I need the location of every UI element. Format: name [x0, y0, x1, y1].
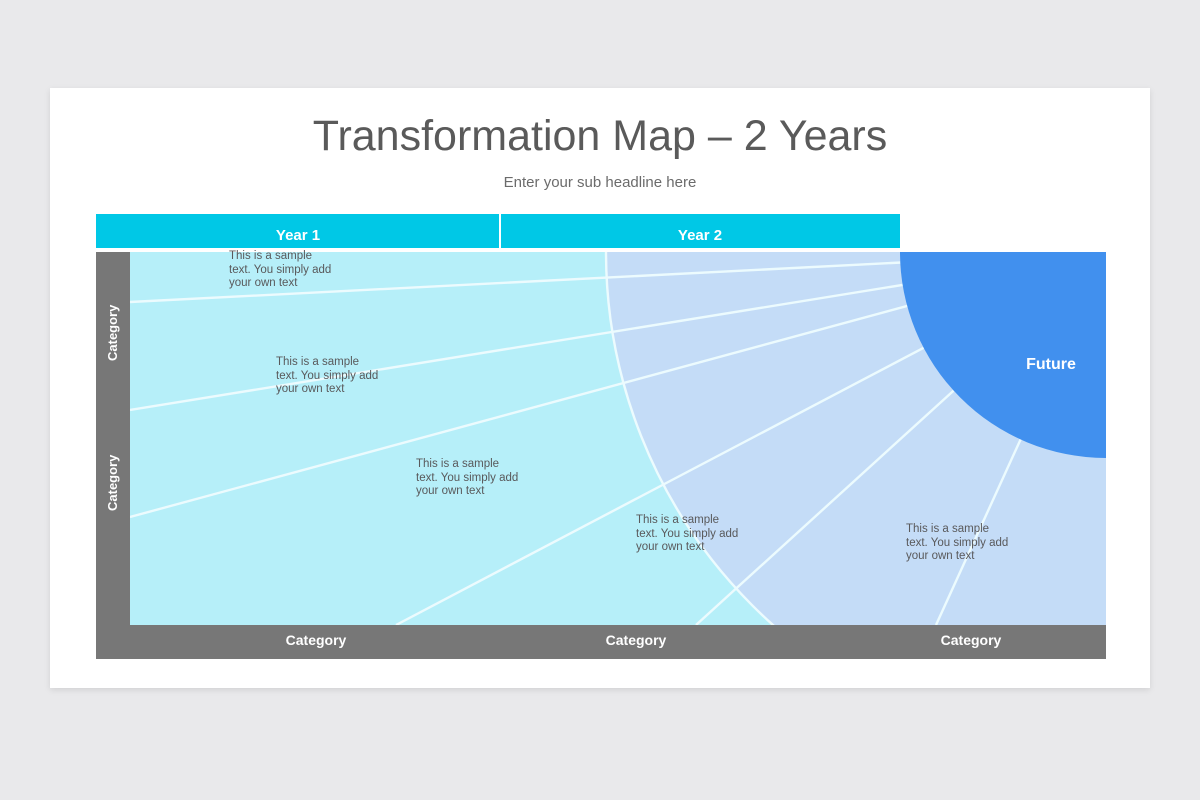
- screenshot-stage: Transformation Map – 2 Years Enter your …: [0, 0, 1200, 800]
- page-title: Transformation Map – 2 Years: [50, 112, 1150, 161]
- bottom-category-bar: [96, 625, 1106, 659]
- year-header-bar[interactable]: [96, 214, 900, 248]
- presentation-slide: Transformation Map – 2 Years Enter your …: [50, 88, 1150, 688]
- side-category-rail: [96, 252, 130, 625]
- transformation-map-diagram: Year 1 Year 2 Future Category Category C…: [96, 214, 1106, 666]
- page-subtitle: Enter your sub headline here: [50, 174, 1150, 191]
- radial-fan-graphic: [96, 214, 1106, 666]
